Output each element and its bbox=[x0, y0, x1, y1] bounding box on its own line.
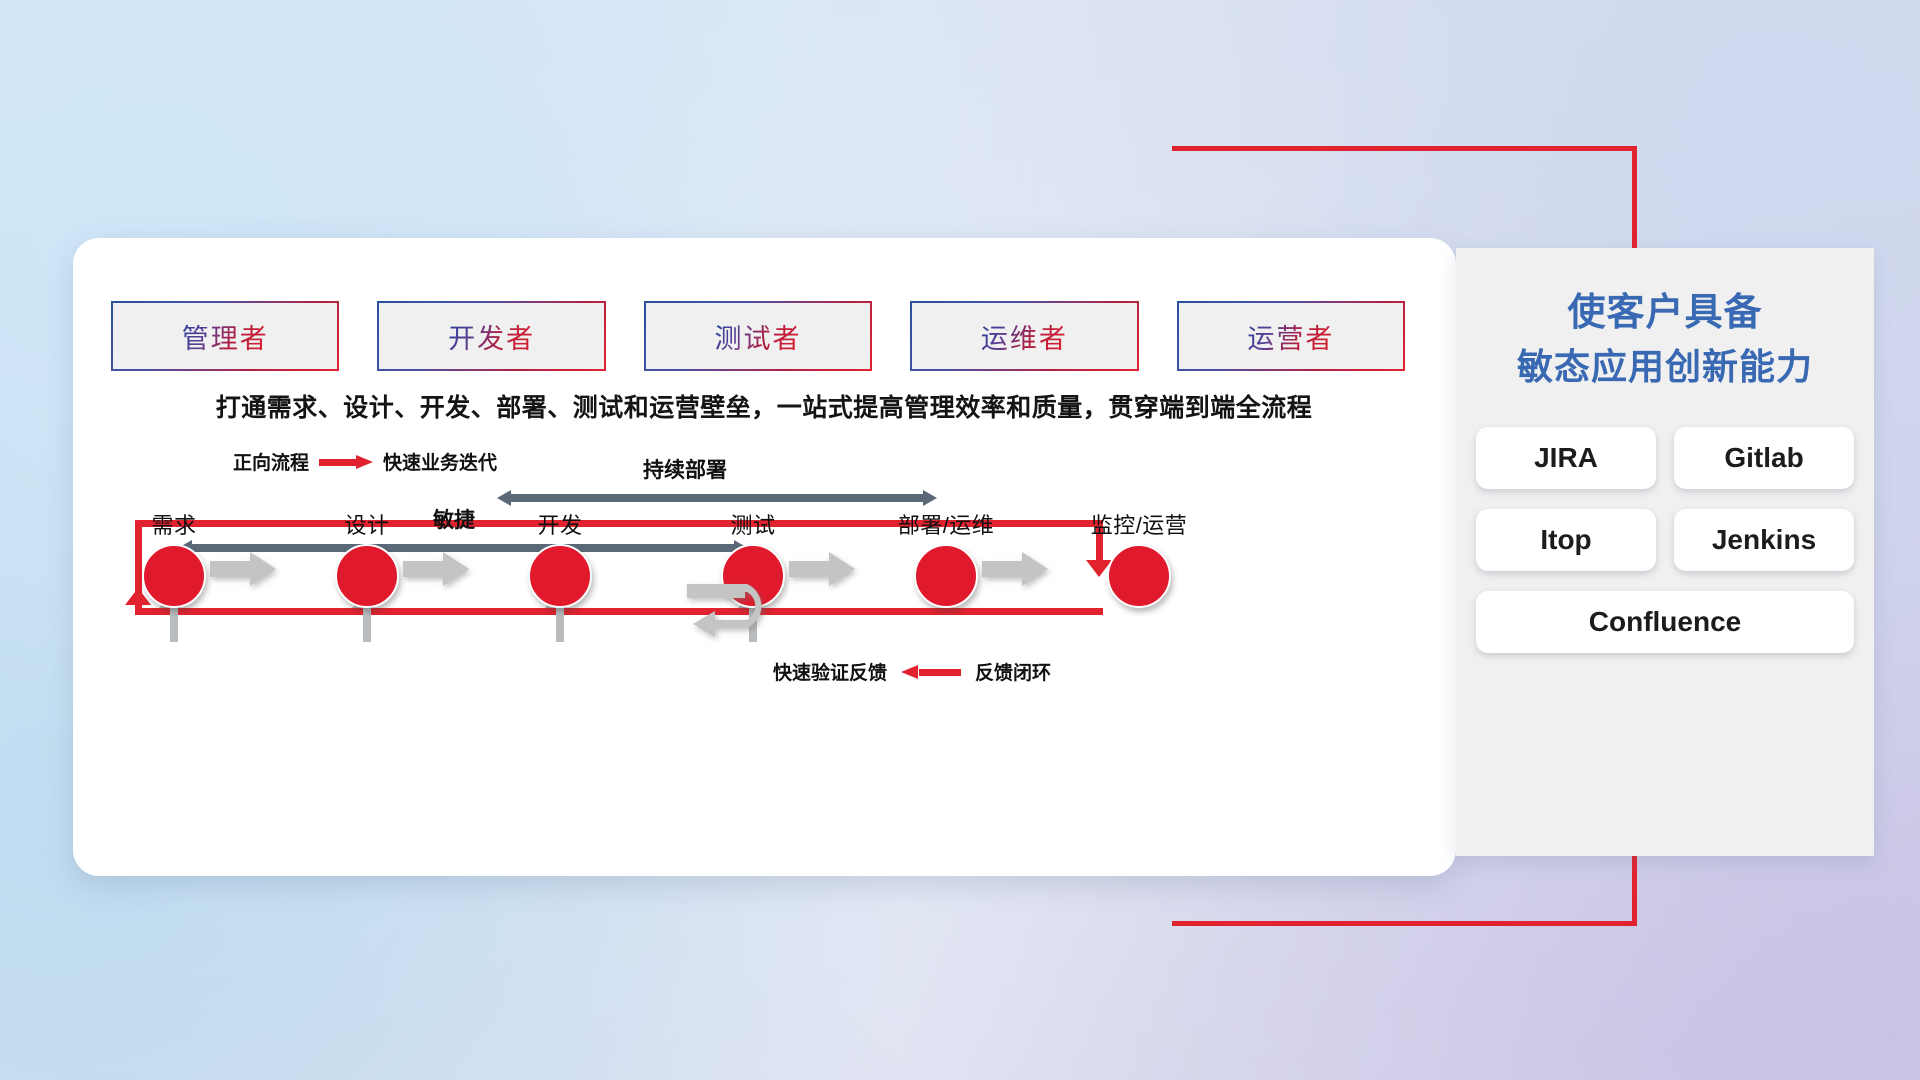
stem-design bbox=[363, 606, 371, 642]
role-box-ops[interactable]: 运维者 bbox=[912, 303, 1136, 369]
chevron-right-icon bbox=[403, 552, 469, 586]
pipeline-row: 需求 设计 开发 测试 部署/运维 监控/运营 bbox=[113, 508, 1413, 638]
role-label: 运维者 bbox=[981, 317, 1068, 356]
arrow-right-red-icon bbox=[319, 455, 373, 469]
role-box-operations[interactable]: 运营者 bbox=[1179, 303, 1403, 369]
arrow-head-left-icon bbox=[497, 490, 511, 506]
panel-title: 使客户具备 敏态应用创新能力 bbox=[1456, 286, 1874, 393]
legend-forward-flow: 正向流程 快速业务迭代 bbox=[233, 448, 497, 475]
tool-chip-grid: JIRA Gitlab Itop Jenkins Confluence bbox=[1472, 427, 1858, 653]
panel-title-line1: 使客户具备 bbox=[1456, 286, 1874, 341]
stage-label: 部署/运维 bbox=[886, 508, 1006, 540]
role-label: 管理者 bbox=[182, 317, 269, 356]
role-box-tester[interactable]: 测试者 bbox=[646, 303, 870, 369]
tool-chip-jira[interactable]: JIRA bbox=[1476, 427, 1656, 489]
role-box-row: 管理者 开发者 测试者 运维者 运营者 bbox=[113, 303, 1403, 369]
stage-label: 测试 bbox=[693, 508, 813, 540]
legend-feedback-loop: 快速验证反馈 反馈闭环 bbox=[773, 658, 1051, 685]
stage-label: 开发 bbox=[500, 508, 620, 540]
role-box-manager[interactable]: 管理者 bbox=[113, 303, 337, 369]
continuous-deployment-arrow bbox=[497, 490, 937, 506]
stage-label: 监控/运营 bbox=[1079, 508, 1199, 540]
loop-back-uturn-icon bbox=[685, 580, 777, 640]
role-label: 开发者 bbox=[448, 317, 535, 356]
stem-develop bbox=[556, 606, 564, 642]
stage-dot bbox=[335, 544, 399, 608]
legend-feedback-left-label: 快速验证反馈 bbox=[773, 658, 887, 685]
stage-label: 设计 bbox=[307, 508, 427, 540]
legend-feedback-right-label: 反馈闭环 bbox=[975, 658, 1051, 685]
stage-dot bbox=[1107, 544, 1171, 608]
legend-forward-left-label: 正向流程 bbox=[233, 448, 309, 475]
panel-title-line2: 敏态应用创新能力 bbox=[1456, 341, 1874, 393]
description-text: 打通需求、设计、开发、部署、测试和运营壁垒，一站式提高管理效率和质量，贯穿端到端… bbox=[109, 388, 1419, 424]
stem-requirement bbox=[170, 606, 178, 642]
pipeline-stage-develop[interactable]: 开发 bbox=[500, 508, 620, 608]
legend-forward-right-label: 快速业务迭代 bbox=[383, 448, 497, 475]
chevron-right-icon bbox=[789, 552, 855, 586]
pipeline-stage-monitor-operations[interactable]: 监控/运营 bbox=[1079, 508, 1199, 608]
stage-dot bbox=[528, 544, 592, 608]
arrow-bar bbox=[510, 494, 924, 502]
role-box-developer[interactable]: 开发者 bbox=[379, 303, 603, 369]
role-label: 测试者 bbox=[715, 317, 802, 356]
arrow-left-red-icon bbox=[901, 665, 961, 679]
stage-dot bbox=[142, 544, 206, 608]
role-label: 运营者 bbox=[1247, 317, 1334, 356]
outcome-panel: 使客户具备 敏态应用创新能力 JIRA Gitlab Itop Jenkins … bbox=[1456, 248, 1874, 856]
main-diagram-card: 管理者 开发者 测试者 运维者 运营者 打通需求、设计、开发、部署、测试和运营壁… bbox=[73, 238, 1456, 876]
continuous-deployment-label: 持续部署 bbox=[643, 454, 727, 484]
chevron-right-icon bbox=[210, 552, 276, 586]
stage-dot bbox=[914, 544, 978, 608]
tool-chip-gitlab[interactable]: Gitlab bbox=[1674, 427, 1854, 489]
chevron-right-icon bbox=[982, 552, 1048, 586]
stage-label: 需求 bbox=[114, 508, 234, 540]
arrow-head-right-icon bbox=[923, 490, 937, 506]
tool-chip-confluence[interactable]: Confluence bbox=[1476, 591, 1854, 653]
tool-chip-jenkins[interactable]: Jenkins bbox=[1674, 509, 1854, 571]
tool-chip-itop[interactable]: Itop bbox=[1476, 509, 1656, 571]
